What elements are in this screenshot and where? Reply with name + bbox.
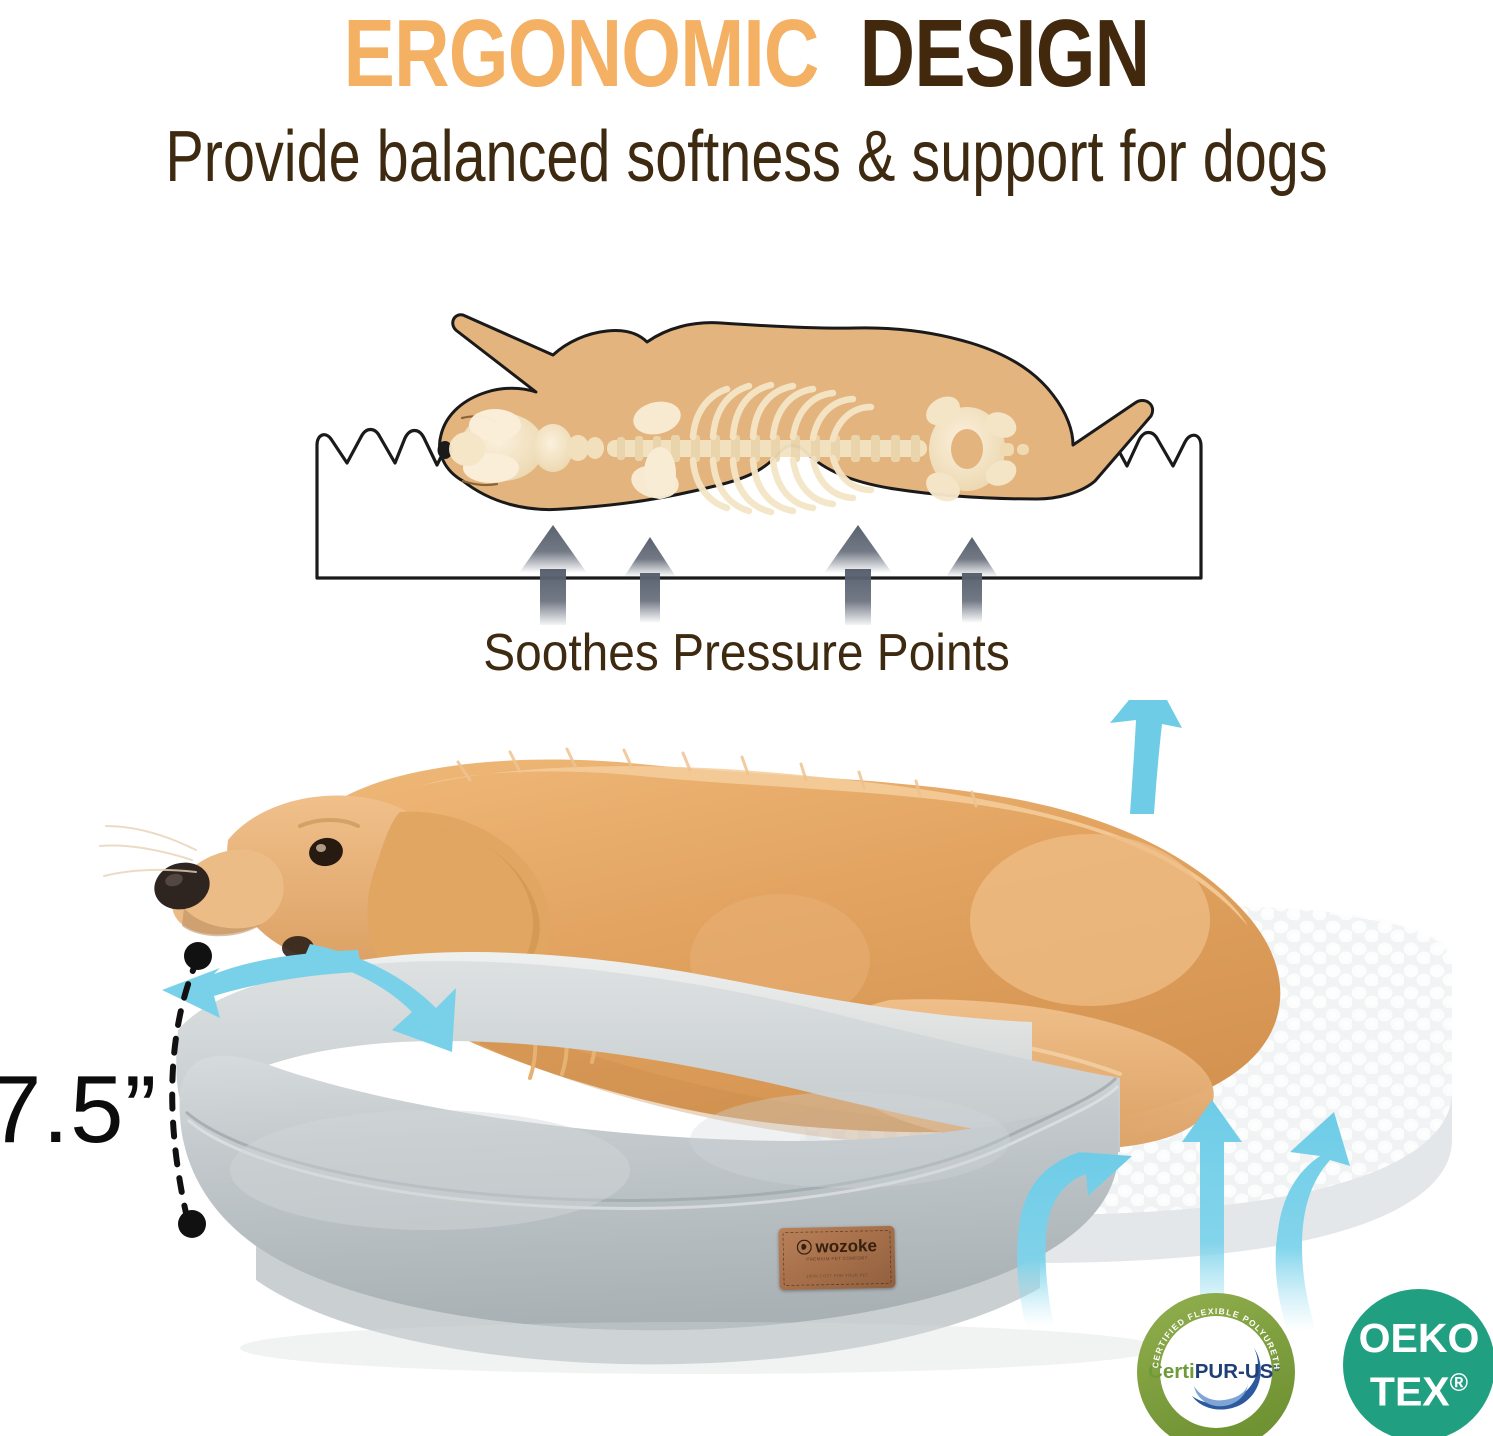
- brand-tagline: PREMIUM PET COMFORT: [806, 1255, 867, 1262]
- measure-endpoint-top: [184, 942, 212, 970]
- certipur-wordmark: CertiPUR-US®: [1148, 1360, 1280, 1383]
- oeko-registered: ®: [1450, 1369, 1468, 1397]
- page-title-secondary: DESIGN: [860, 0, 1150, 107]
- cyan-arrow-up-right: [1110, 700, 1182, 814]
- brand-name: wozoke: [815, 1237, 877, 1255]
- pressure-points-caption: Soothes Pressure Points: [60, 622, 1434, 684]
- page-title: ERGONOMIC DESIGN: [149, 2, 1343, 106]
- oeko-tex-badge: OEKO TEX®: [1343, 1289, 1493, 1436]
- oeko-line2: TEX: [1370, 1368, 1450, 1414]
- brand-tag: wozoke PREMIUM PET COMFORT 100% COZY FOR…: [778, 1226, 895, 1290]
- certipur-us-badge: CertiPUR-US® CONTAINS CERTIFIED FLEXIBLE…: [1136, 1292, 1296, 1436]
- wozoke-paw-icon: [796, 1240, 811, 1255]
- page-subtitle: Provide balanced softness & support for …: [149, 116, 1343, 198]
- height-measure-line: [140, 930, 270, 1260]
- brand-sub: 100% COZY FOR YOUR PET: [806, 1272, 869, 1278]
- bed-height-value: 7.5”: [0, 1060, 157, 1160]
- oeko-line1: OEKO: [1359, 1317, 1480, 1360]
- product-feature-image: ERGONOMIC DESIGN Provide balanced softne…: [0, 0, 1493, 1436]
- pressure-point-diagram: [295, 285, 1260, 625]
- measure-endpoint-bottom: [178, 1210, 206, 1238]
- page-title-emphasis: ERGONOMIC: [344, 0, 819, 107]
